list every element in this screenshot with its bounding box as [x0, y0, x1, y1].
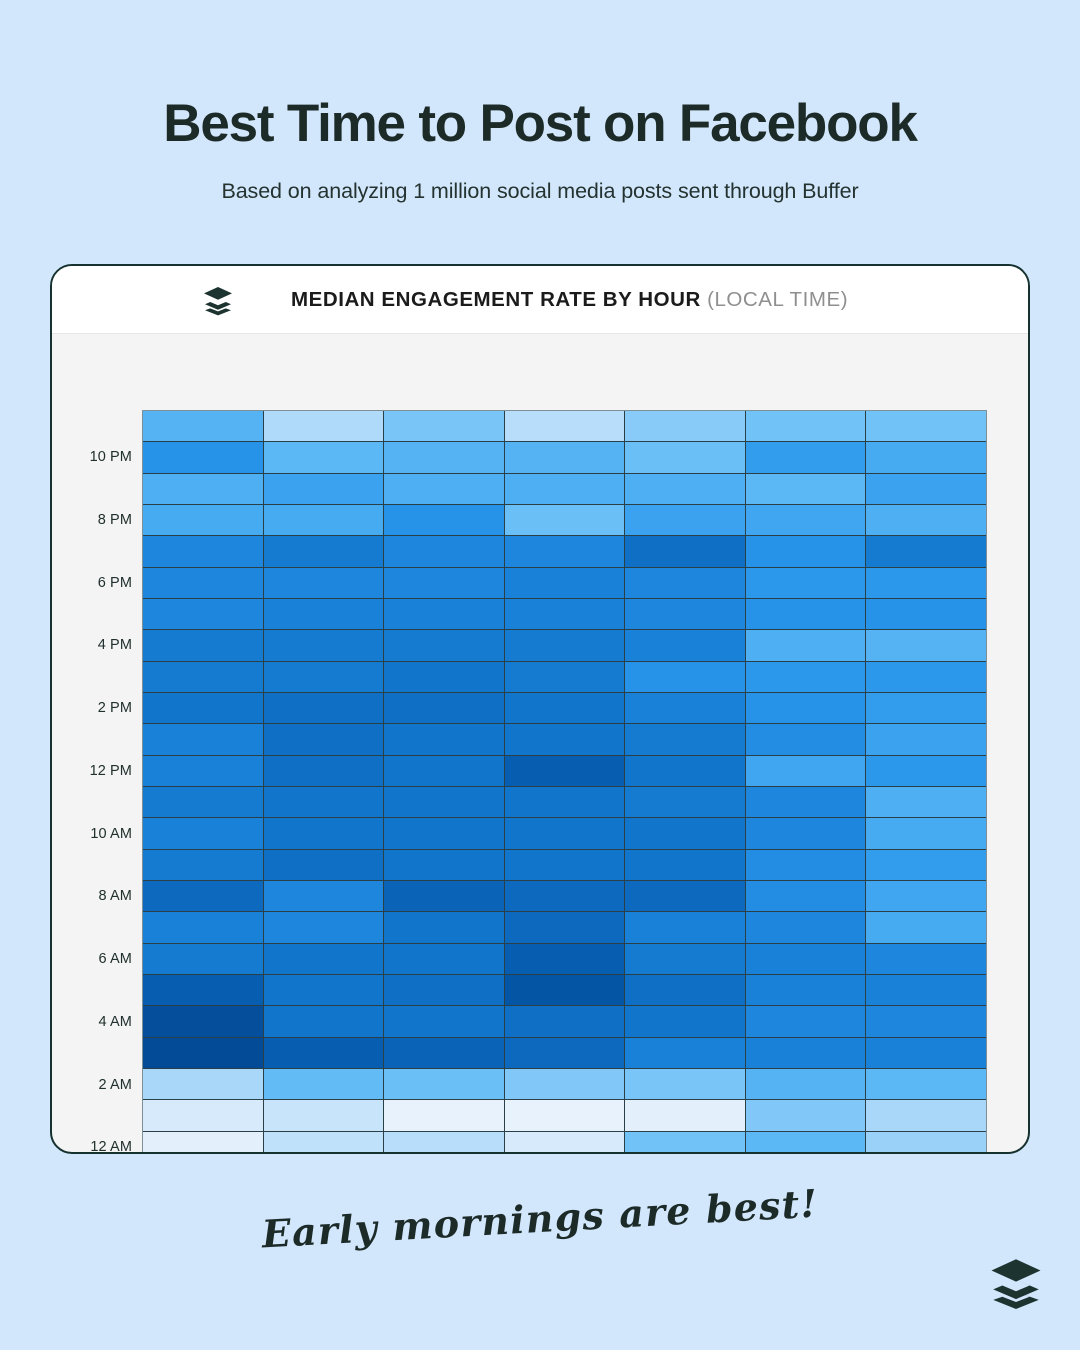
heatmap-cell[interactable]: [746, 912, 866, 942]
heatmap-cell[interactable]: [746, 756, 866, 786]
heatmap-wrapper: 10 PM8 PM6 PM4 PM2 PM12 PM10 AM8 AM6 AM4…: [142, 410, 987, 1154]
chart-title-sub: (LOCAL TIME): [707, 288, 848, 311]
heatmap-cell[interactable]: [625, 1100, 745, 1130]
heatmap-cell[interactable]: [384, 787, 504, 817]
heatmap-cell[interactable]: [384, 756, 504, 786]
heatmap-cell[interactable]: [384, 912, 504, 942]
heatmap-cell[interactable]: [264, 944, 384, 974]
heatmap-cell[interactable]: [143, 724, 263, 754]
heatmap-cell[interactable]: [264, 912, 384, 942]
heatmap-cell[interactable]: [384, 1006, 504, 1036]
heatmap-cell[interactable]: [384, 944, 504, 974]
heatmap-cell[interactable]: [866, 599, 986, 629]
heatmap-cell[interactable]: [866, 787, 986, 817]
heatmap-cell[interactable]: [505, 442, 625, 472]
heatmap-cell[interactable]: [625, 536, 745, 566]
heatmap-cell[interactable]: [384, 505, 504, 535]
heatmap-cell[interactable]: [746, 1006, 866, 1036]
heatmap-cell[interactable]: [746, 599, 866, 629]
heatmap-cell[interactable]: [625, 1006, 745, 1036]
heatmap-cell[interactable]: [625, 975, 745, 1005]
heatmap-cell[interactable]: [264, 411, 384, 441]
heatmap-cell[interactable]: [143, 599, 263, 629]
heatmap-cell[interactable]: [746, 630, 866, 660]
heatmap-cell[interactable]: [746, 505, 866, 535]
heatmap-cell[interactable]: [143, 1132, 263, 1154]
heatmap-cell[interactable]: [505, 1006, 625, 1036]
heatmap-cell[interactable]: [746, 568, 866, 598]
page-subtitle: Based on analyzing 1 million social medi…: [0, 179, 1080, 204]
heatmap-cell[interactable]: [384, 1038, 504, 1068]
heatmap-cell[interactable]: [746, 724, 866, 754]
heatmap-cell[interactable]: [264, 536, 384, 566]
heatmap-cell[interactable]: [866, 536, 986, 566]
heatmap-cell[interactable]: [625, 411, 745, 441]
heatmap-cell[interactable]: [505, 818, 625, 848]
heatmap-cell[interactable]: [866, 505, 986, 535]
heatmap-cell[interactable]: [625, 944, 745, 974]
heatmap-cell[interactable]: [264, 1006, 384, 1036]
heatmap-cell[interactable]: [264, 975, 384, 1005]
heatmap-cell[interactable]: [264, 474, 384, 504]
heatmap-cell[interactable]: [384, 881, 504, 911]
heatmap-cell[interactable]: [746, 850, 866, 880]
heatmap-cell[interactable]: [384, 599, 504, 629]
heatmap-cell[interactable]: [866, 1132, 986, 1154]
heatmap-cell[interactable]: [625, 724, 745, 754]
heatmap-cell[interactable]: [143, 912, 263, 942]
page-header: Best Time to Post on Facebook Based on a…: [0, 0, 1080, 204]
heatmap-cell[interactable]: [143, 1100, 263, 1130]
heatmap-cell[interactable]: [143, 975, 263, 1005]
heatmap-cell[interactable]: [143, 881, 263, 911]
heatmap-cell[interactable]: [625, 693, 745, 723]
chart-card: MEDIAN ENGAGEMENT RATE BY HOUR (LOCAL TI…: [50, 264, 1030, 1154]
chart-card-body: 10 PM8 PM6 PM4 PM2 PM12 PM10 AM8 AM6 AM4…: [52, 334, 1028, 1154]
heatmap-cell[interactable]: [384, 1069, 504, 1099]
heatmap-cell[interactable]: [625, 850, 745, 880]
heatmap-cell[interactable]: [746, 818, 866, 848]
heatmap-cell[interactable]: [384, 536, 504, 566]
heatmap-cell[interactable]: [384, 411, 504, 441]
heatmap-cell[interactable]: [264, 787, 384, 817]
heatmap-cell[interactable]: [746, 442, 866, 472]
heatmap-cell[interactable]: [505, 662, 625, 692]
heatmap-cell[interactable]: [505, 724, 625, 754]
heatmap-y-tick: 12 PM: [90, 763, 132, 779]
heatmap-cell[interactable]: [143, 630, 263, 660]
heatmap-cell[interactable]: [746, 787, 866, 817]
heatmap-cell[interactable]: [143, 474, 263, 504]
heatmap-cell[interactable]: [143, 662, 263, 692]
heatmap-cell[interactable]: [143, 568, 263, 598]
heatmap-cell[interactable]: [866, 693, 986, 723]
annotation-text: Early mornings are best!: [0, 1166, 1080, 1271]
heatmap-cell[interactable]: [625, 756, 745, 786]
heatmap-cell[interactable]: [625, 787, 745, 817]
heatmap-y-tick: 10 PM: [90, 449, 132, 465]
heatmap-cell[interactable]: [384, 693, 504, 723]
heatmap-cell[interactable]: [384, 474, 504, 504]
heatmap-cell[interactable]: [505, 568, 625, 598]
heatmap-cell[interactable]: [866, 1069, 986, 1099]
heatmap-cell[interactable]: [505, 975, 625, 1005]
heatmap-cell[interactable]: [143, 1069, 263, 1099]
heatmap-cell[interactable]: [384, 818, 504, 848]
heatmap-y-tick: 12 AM: [90, 1139, 132, 1154]
heatmap-cell[interactable]: [746, 1100, 866, 1130]
heatmap-cell[interactable]: [746, 411, 866, 441]
heatmap-cell[interactable]: [625, 599, 745, 629]
heatmap-cell[interactable]: [866, 850, 986, 880]
heatmap-cell[interactable]: [264, 881, 384, 911]
heatmap-cell[interactable]: [866, 442, 986, 472]
heatmap-cell[interactable]: [264, 1100, 384, 1130]
heatmap-cell[interactable]: [746, 474, 866, 504]
heatmap-cell[interactable]: [625, 442, 745, 472]
heatmap-cell[interactable]: [505, 912, 625, 942]
heatmap-cell[interactable]: [384, 568, 504, 598]
heatmap-y-tick: 8 AM: [99, 888, 132, 904]
heatmap-cell[interactable]: [746, 693, 866, 723]
heatmap-cell[interactable]: [625, 881, 745, 911]
heatmap-cell[interactable]: [505, 1069, 625, 1099]
heatmap-cell[interactable]: [384, 662, 504, 692]
heatmap-cell[interactable]: [264, 599, 384, 629]
heatmap-cell[interactable]: [505, 1038, 625, 1068]
heatmap-cell[interactable]: [625, 474, 745, 504]
heatmap-y-tick: 6 PM: [98, 575, 132, 591]
heatmap-cell[interactable]: [264, 850, 384, 880]
page-title: Best Time to Post on Facebook: [0, 96, 1080, 152]
heatmap-cell[interactable]: [264, 568, 384, 598]
heatmap-grid: [142, 410, 987, 1154]
heatmap-cell[interactable]: [746, 536, 866, 566]
heatmap-cell[interactable]: [143, 1038, 263, 1068]
heatmap-cell[interactable]: [746, 1069, 866, 1099]
heatmap-cell[interactable]: [384, 1132, 504, 1154]
heatmap-cell[interactable]: [625, 1132, 745, 1154]
heatmap-y-tick: 2 AM: [99, 1077, 132, 1093]
chart-card-header: MEDIAN ENGAGEMENT RATE BY HOUR (LOCAL TI…: [52, 266, 1028, 334]
heatmap-cell[interactable]: [625, 1069, 745, 1099]
heatmap-cell[interactable]: [384, 975, 504, 1005]
heatmap-cell[interactable]: [505, 850, 625, 880]
heatmap-cell[interactable]: [505, 505, 625, 535]
heatmap-y-tick: 4 AM: [99, 1014, 132, 1030]
heatmap-y-tick: 4 PM: [98, 637, 132, 653]
heatmap-y-tick: 2 PM: [98, 700, 132, 716]
heatmap-cell[interactable]: [866, 411, 986, 441]
heatmap-cell[interactable]: [866, 912, 986, 942]
heatmap-cell[interactable]: [384, 630, 504, 660]
heatmap-cell[interactable]: [264, 1132, 384, 1154]
heatmap-cell[interactable]: [866, 818, 986, 848]
heatmap-cell[interactable]: [866, 1006, 986, 1036]
heatmap-cell[interactable]: [866, 662, 986, 692]
heatmap-cell[interactable]: [505, 411, 625, 441]
heatmap-cell[interactable]: [866, 975, 986, 1005]
heatmap-y-tick: 10 AM: [90, 826, 132, 842]
heatmap-cell[interactable]: [143, 505, 263, 535]
heatmap-cell[interactable]: [625, 662, 745, 692]
heatmap-cell[interactable]: [143, 756, 263, 786]
heatmap-cell[interactable]: [866, 474, 986, 504]
heatmap-cell[interactable]: [866, 944, 986, 974]
heatmap-cell[interactable]: [625, 630, 745, 660]
heatmap-cell[interactable]: [505, 1100, 625, 1130]
heatmap-y-tick: 8 PM: [98, 512, 132, 528]
heatmap-cell[interactable]: [264, 1038, 384, 1068]
heatmap-cell[interactable]: [264, 505, 384, 535]
heatmap-cell[interactable]: [746, 881, 866, 911]
heatmap-cell[interactable]: [143, 818, 263, 848]
heatmap-cell[interactable]: [143, 944, 263, 974]
buffer-logo-footer-icon: [988, 1254, 1044, 1310]
heatmap-cell[interactable]: [264, 818, 384, 848]
heatmap-cell[interactable]: [384, 442, 504, 472]
heatmap-cell[interactable]: [264, 724, 384, 754]
heatmap-cell[interactable]: [264, 756, 384, 786]
heatmap-cell[interactable]: [866, 1038, 986, 1068]
heatmap-cell[interactable]: [384, 1100, 504, 1130]
heatmap-cell[interactable]: [505, 536, 625, 566]
heatmap-cell[interactable]: [625, 818, 745, 848]
heatmap-cell[interactable]: [384, 850, 504, 880]
heatmap-cell[interactable]: [505, 1132, 625, 1154]
heatmap-cell[interactable]: [505, 474, 625, 504]
heatmap-y-tick: 6 AM: [99, 951, 132, 967]
heatmap-cell[interactable]: [505, 881, 625, 911]
heatmap-cell[interactable]: [625, 1038, 745, 1068]
heatmap-cell[interactable]: [866, 756, 986, 786]
heatmap-cell[interactable]: [143, 442, 263, 472]
heatmap-cell[interactable]: [866, 724, 986, 754]
heatmap-cell[interactable]: [746, 1038, 866, 1068]
heatmap-cell[interactable]: [866, 630, 986, 660]
heatmap-cell[interactable]: [143, 693, 263, 723]
heatmap-y-axis: 10 PM8 PM6 PM4 PM2 PM12 PM10 AM8 AM6 AM4…: [50, 410, 132, 1154]
chart-title-main: MEDIAN ENGAGEMENT RATE BY HOUR: [291, 288, 701, 311]
heatmap-cell[interactable]: [505, 630, 625, 660]
heatmap-cell[interactable]: [264, 630, 384, 660]
heatmap-cell[interactable]: [746, 975, 866, 1005]
heatmap-cell[interactable]: [264, 693, 384, 723]
heatmap-cell[interactable]: [143, 536, 263, 566]
heatmap-cell[interactable]: [746, 944, 866, 974]
heatmap-cell[interactable]: [505, 756, 625, 786]
heatmap-cell[interactable]: [866, 1100, 986, 1130]
heatmap-cell[interactable]: [505, 944, 625, 974]
heatmap-cell[interactable]: [505, 787, 625, 817]
buffer-layers-icon: [202, 284, 234, 316]
chart-title: MEDIAN ENGAGEMENT RATE BY HOUR (LOCAL TI…: [291, 288, 848, 312]
heatmap-cell[interactable]: [384, 724, 504, 754]
heatmap-cell[interactable]: [143, 411, 263, 441]
heatmap-cell[interactable]: [625, 912, 745, 942]
heatmap-cell[interactable]: [505, 599, 625, 629]
heatmap-cell[interactable]: [746, 1132, 866, 1154]
heatmap-cell[interactable]: [143, 1006, 263, 1036]
heatmap-cell[interactable]: [264, 1069, 384, 1099]
heatmap-cell[interactable]: [143, 850, 263, 880]
heatmap-cell[interactable]: [264, 442, 384, 472]
heatmap-cell[interactable]: [264, 662, 384, 692]
heatmap-cell[interactable]: [866, 568, 986, 598]
heatmap-cell[interactable]: [625, 505, 745, 535]
heatmap-cell[interactable]: [625, 568, 745, 598]
heatmap-cell[interactable]: [746, 662, 866, 692]
heatmap-cell[interactable]: [866, 881, 986, 911]
heatmap-cell[interactable]: [143, 787, 263, 817]
heatmap-cell[interactable]: [505, 693, 625, 723]
